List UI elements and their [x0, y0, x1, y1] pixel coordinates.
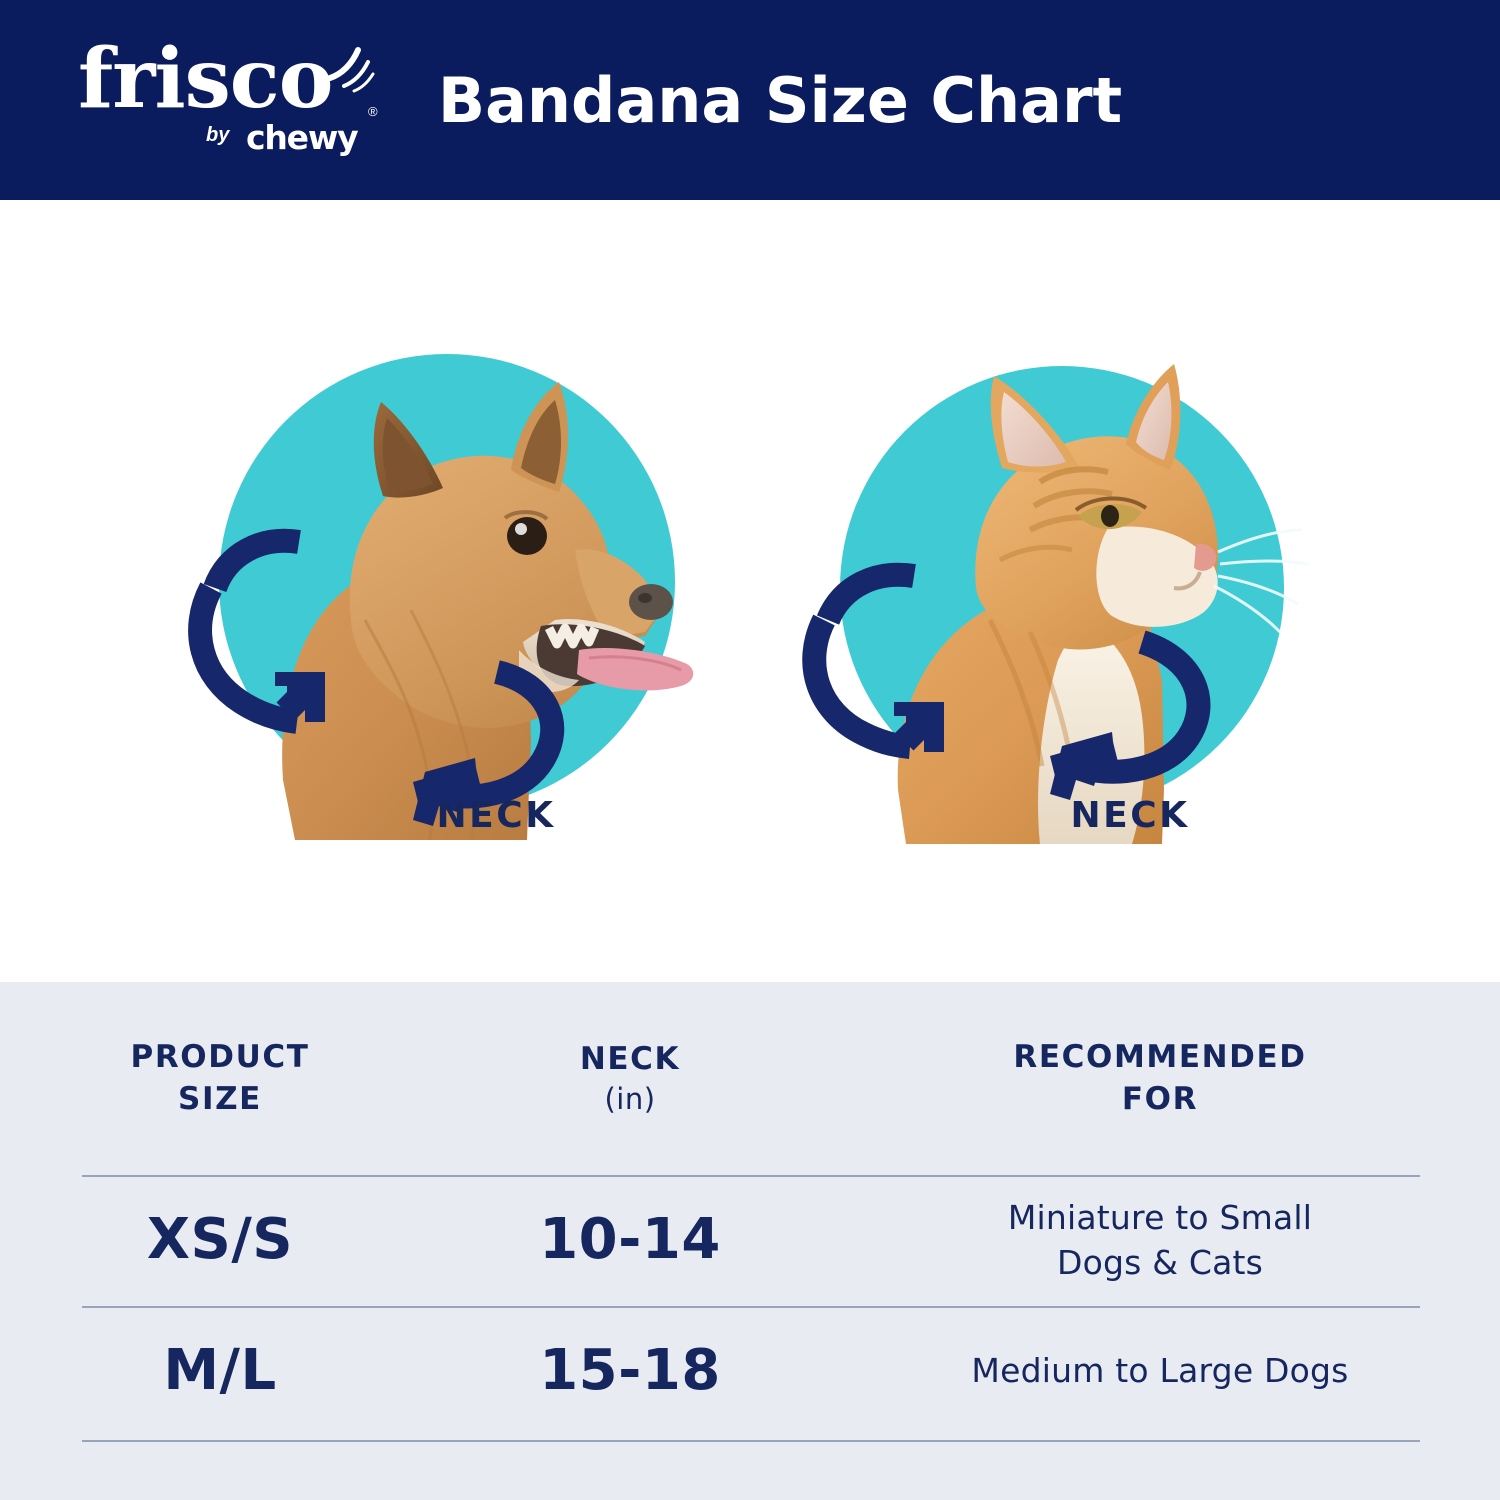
- table-row: XS/S 10-14 Miniature to Small Dogs & Cat…: [0, 1175, 1500, 1306]
- cell-neck: 10-14: [440, 1175, 820, 1306]
- cat-neck-label: NECK: [790, 795, 1350, 836]
- column-header-neck-line1: NECK: [580, 1039, 680, 1081]
- cell-recommended-line1: Medium to Large Dogs: [971, 1349, 1348, 1394]
- cell-neck: 15-18: [440, 1306, 820, 1437]
- size-table: PRODUCT SIZE NECK (in) RECOMMENDED FOR X…: [0, 982, 1500, 1500]
- column-header-product-size: PRODUCT SIZE: [0, 1014, 440, 1144]
- cell-product-size-value: XS/S: [147, 1211, 293, 1270]
- cell-recommended-line1: Miniature to Small: [1008, 1196, 1312, 1241]
- page-title: Bandana Size Chart: [0, 0, 1500, 200]
- cell-product-size-value: M/L: [163, 1342, 276, 1401]
- column-header-product-size-line2: SIZE: [178, 1079, 262, 1121]
- illustration-band: NECK: [0, 200, 1500, 980]
- column-header-neck-unit: (in): [604, 1080, 655, 1119]
- column-header-recommended-for: RECOMMENDED FOR: [820, 1014, 1500, 1144]
- table-divider-bottom: [82, 1440, 1420, 1442]
- column-header-neck: NECK (in): [440, 1014, 820, 1144]
- column-header-product-size-line1: PRODUCT: [131, 1037, 310, 1079]
- cell-product-size: XS/S: [0, 1175, 440, 1306]
- cell-recommended-for: Miniature to Small Dogs & Cats: [820, 1175, 1500, 1306]
- header-bar: frisco ® by chewy Bandana Size Chart: [0, 0, 1500, 200]
- column-header-recommended-line2: FOR: [1122, 1079, 1198, 1121]
- cell-neck-value: 10-14: [539, 1211, 721, 1270]
- cell-recommended-for: Medium to Large Dogs: [820, 1306, 1500, 1437]
- cell-product-size: M/L: [0, 1306, 440, 1437]
- cell-recommended-line2: Dogs & Cats: [1057, 1241, 1263, 1286]
- size-chart-page: frisco ® by chewy Bandana Size Chart: [0, 0, 1500, 1500]
- column-header-recommended-line1: RECOMMENDED: [1013, 1037, 1306, 1079]
- table-header-row: PRODUCT SIZE NECK (in) RECOMMENDED FOR: [0, 1014, 1500, 1144]
- cell-neck-value: 15-18: [539, 1342, 721, 1401]
- table-row: M/L 15-18 Medium to Large Dogs: [0, 1306, 1500, 1437]
- dog-neck-label: NECK: [175, 795, 735, 836]
